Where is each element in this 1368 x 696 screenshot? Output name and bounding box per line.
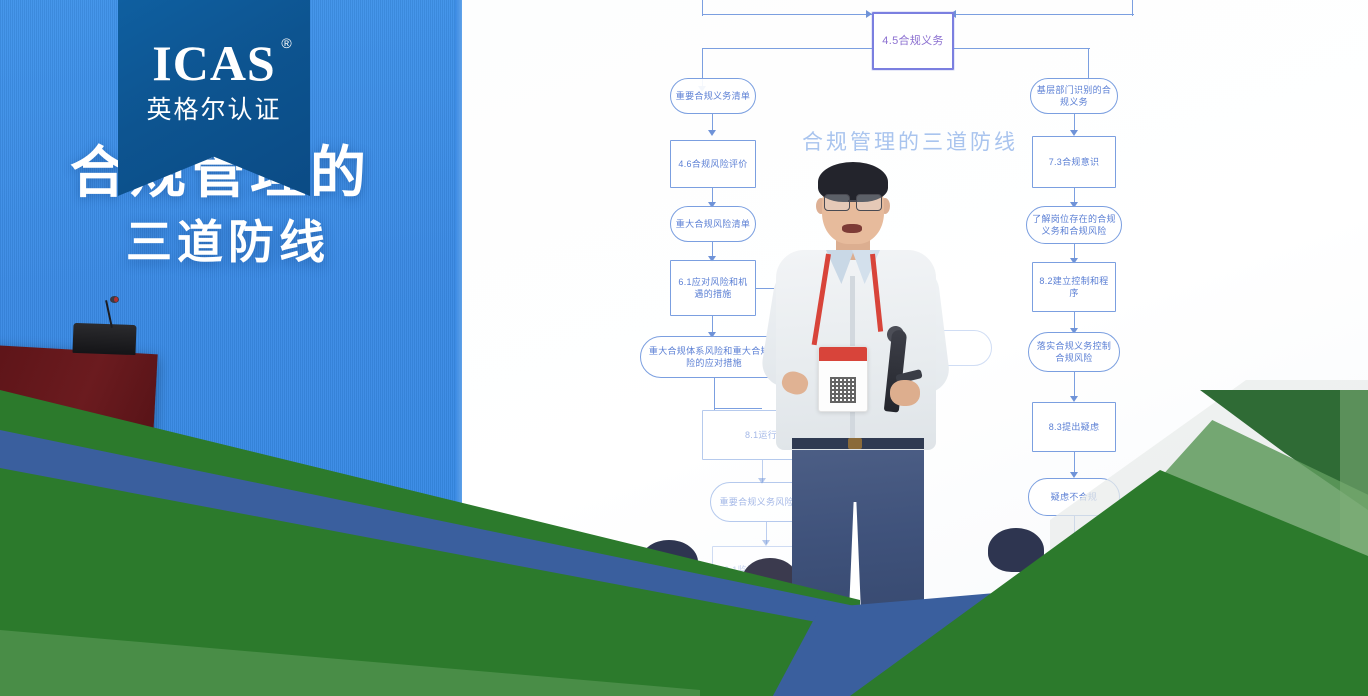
- speaker-glasses-right-lens: [856, 194, 882, 211]
- flow-node-right-4: 落实合规义务控制合规风险: [1028, 332, 1120, 372]
- flow-node-left-0: 重要合规义务清单: [670, 78, 756, 114]
- podium-equipment: [72, 323, 136, 355]
- flow-connector: [714, 378, 715, 410]
- flow-connector: [954, 48, 1090, 49]
- flow-node-right-0: 基层部门识别的合规义务: [1030, 78, 1118, 114]
- flow-connector: [1132, 0, 1133, 16]
- speaker-belt-buckle: [848, 438, 862, 449]
- badge-qr-code-icon: [830, 377, 856, 403]
- registered-trademark-icon: ®: [281, 36, 292, 50]
- flow-connector: [702, 48, 872, 49]
- flow-node-right-3: 8.2建立控制和程序: [1032, 262, 1116, 312]
- icas-logo-wordmark: ICAS ®: [152, 38, 275, 88]
- flow-node-right-5: 8.3提出疑虑: [1032, 402, 1116, 452]
- flow-arrow-icon: [708, 130, 716, 136]
- flow-node-right-2: 了解岗位存在的合规义务和合规风险: [1026, 206, 1122, 244]
- presentation-screenshot: 合规管理的 三道防线 ICAS ® 英格尔认证 合规管理的三道防线 4.5合规义…: [0, 0, 1368, 696]
- slide-title-main-line: 三道防线: [126, 206, 466, 272]
- speaker-glasses-left-lens: [824, 194, 850, 211]
- icas-logo-text: ICAS: [152, 35, 275, 91]
- speaker-badge: [818, 346, 868, 412]
- flow-connector: [954, 14, 1134, 15]
- flow-connector: [702, 0, 703, 16]
- flow-node-left-2: 重大合规风险清单: [670, 206, 756, 242]
- speaker-mouth: [842, 224, 862, 233]
- podium-microphone-indicator-icon: [114, 297, 118, 302]
- flow-node-right-1: 7.3合规意识: [1032, 136, 1116, 188]
- flow-node-center: 4.5合规义务: [872, 12, 954, 70]
- flow-node-left-3: 6.1应对风险和机遇的措施: [670, 260, 756, 316]
- speaker-right-hand: [890, 380, 920, 406]
- badge-header: [819, 347, 867, 361]
- speaker-figure: [770, 150, 980, 620]
- icas-logo-chinese-name: 英格尔认证: [118, 98, 310, 123]
- flow-connector: [702, 14, 872, 15]
- speaker-glasses-bridge: [848, 200, 856, 202]
- flow-node-left-1: 4.6合规风险评价: [670, 140, 756, 188]
